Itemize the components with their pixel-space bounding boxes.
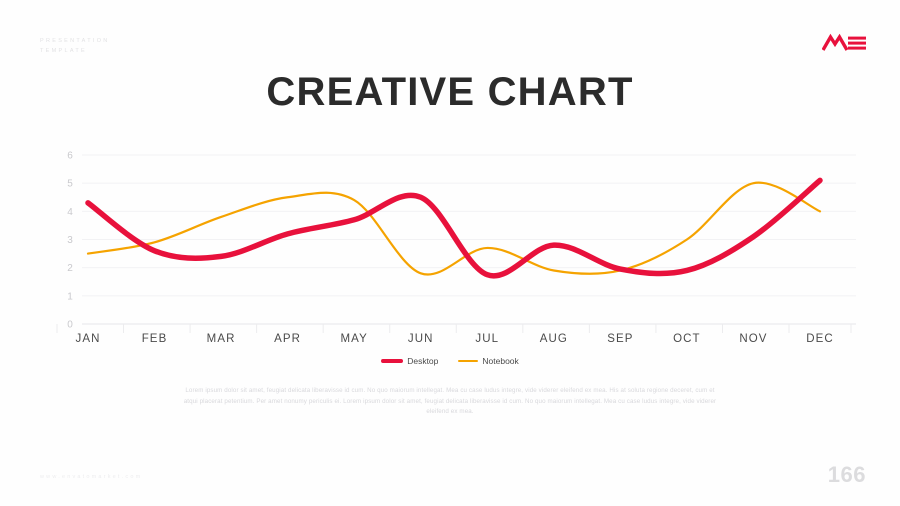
y-axis-tick-label: 3	[67, 235, 73, 246]
y-axis-tick-label: 1	[67, 291, 73, 302]
chart-container: 6543210	[0, 140, 900, 355]
x-axis-label-nov: NOV	[722, 333, 784, 345]
x-axis-label-feb: FEB	[124, 333, 186, 345]
series-line-desktop	[88, 180, 820, 275]
x-axis-label-jul: JUL	[456, 333, 518, 345]
slide-canvas: PRESENTATION TEMPLATE CREATIVE CHART 654…	[0, 0, 900, 506]
kicker-line-2: TEMPLATE	[40, 46, 110, 56]
x-axis-label-aug: AUG	[523, 333, 585, 345]
body-paragraph: Lorem ipsum dolor sit amet, feugiat deli…	[178, 386, 722, 418]
legend-swatch-desktop	[381, 359, 403, 363]
y-axis-tick-label: 4	[67, 207, 73, 218]
line-chart: 6543210	[0, 140, 900, 355]
x-axis-label-may: MAY	[323, 333, 385, 345]
legend-item-notebook[interactable]: Notebook	[458, 356, 518, 366]
chart-legend: Desktop Notebook	[0, 356, 900, 366]
x-axis-label-mar: MAR	[190, 333, 252, 345]
x-axis-labels: JANFEBMARAPRMAYJUNJULAUGSEPOCTNOVDEC	[0, 333, 900, 351]
y-axis-tick-label: 6	[67, 151, 73, 162]
page-title: CREATIVE CHART	[0, 70, 900, 115]
legend-swatch-notebook	[458, 360, 478, 362]
x-axis-label-sep: SEP	[589, 333, 651, 345]
y-axis-tick-label: 5	[67, 179, 73, 190]
x-axis-label-apr: APR	[257, 333, 319, 345]
legend-item-desktop[interactable]: Desktop	[381, 356, 438, 366]
x-axis-label-dec: DEC	[789, 333, 851, 345]
y-axis-tick-label: 0	[67, 320, 73, 331]
presentation-kicker: PRESENTATION TEMPLATE	[40, 36, 110, 56]
page-number: 166	[828, 462, 866, 488]
kicker-line-1: PRESENTATION	[40, 36, 110, 46]
y-axis-tick-label: 2	[67, 263, 73, 274]
x-axis-label-oct: OCT	[656, 333, 718, 345]
x-axis-label-jan: JAN	[57, 333, 119, 345]
footer-website: www.envatomarket.com	[40, 474, 142, 480]
me-logo-icon	[822, 33, 868, 53]
legend-label-desktop: Desktop	[407, 356, 438, 366]
x-axis-label-jun: JUN	[390, 333, 452, 345]
legend-label-notebook: Notebook	[482, 356, 518, 366]
